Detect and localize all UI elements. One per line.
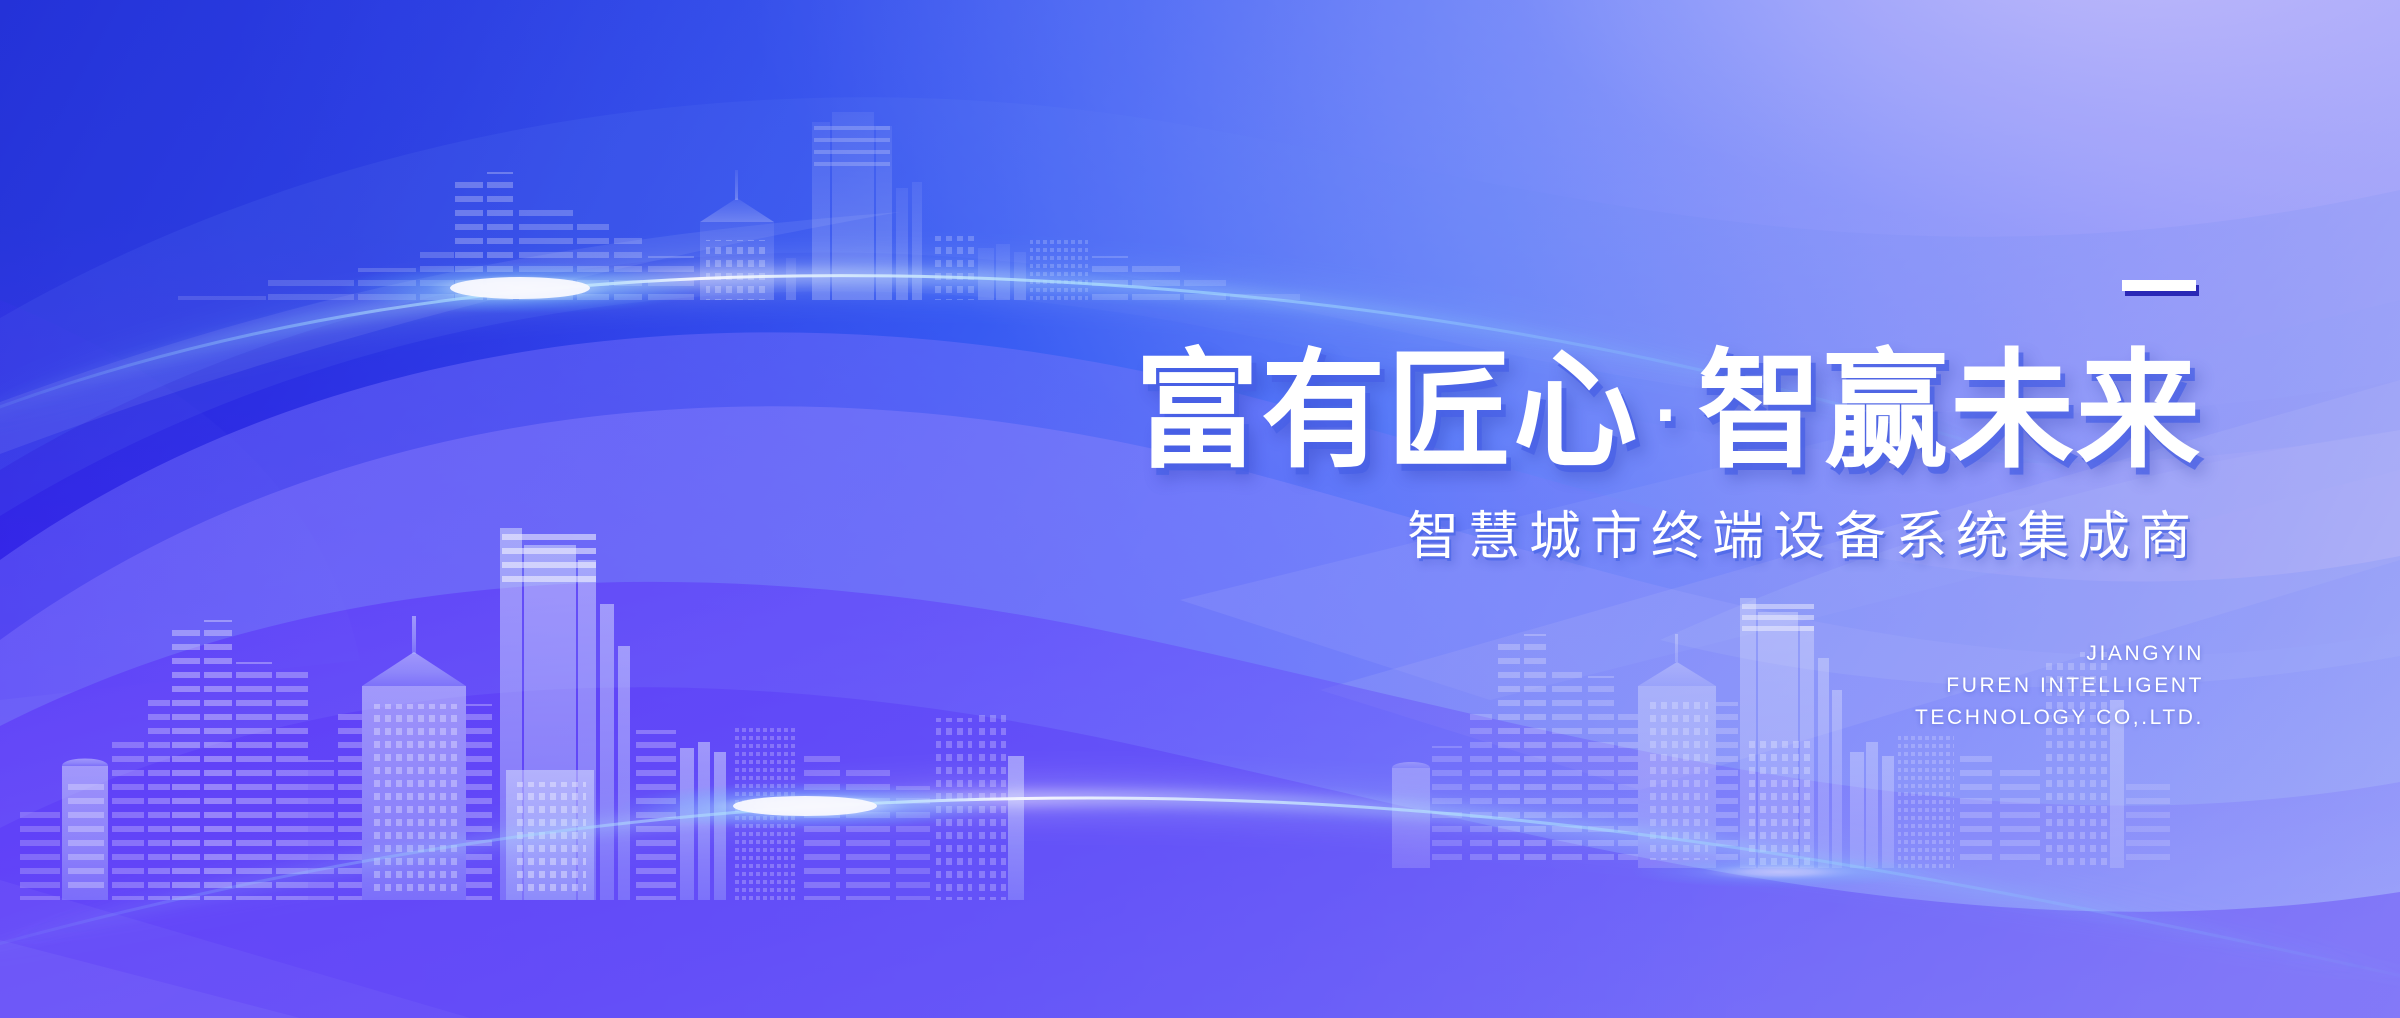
promo-banner: 富有匠心·智赢未来 智慧城市终端设备系统集成商 JIANGYIN FUREN I… xyxy=(0,0,2400,1018)
background-artwork xyxy=(0,0,2400,1018)
